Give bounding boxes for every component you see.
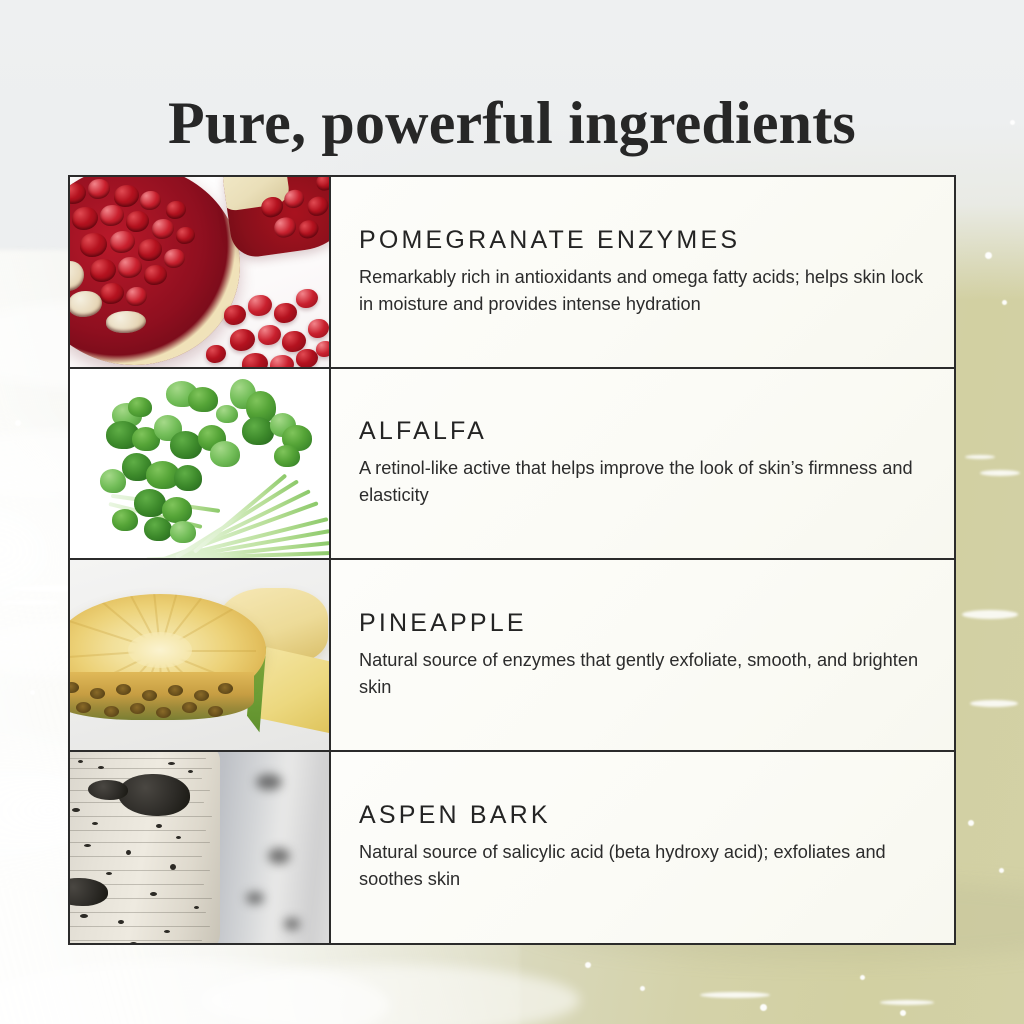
ingredient-description: Natural source of enzymes that gently ex… xyxy=(359,647,926,701)
background-speck-7 xyxy=(760,1004,767,1011)
background-streak-5 xyxy=(980,470,1020,476)
table-row: POMEGRANATE ENZYMES Remarkably rich in a… xyxy=(70,177,954,369)
ingredient-description: A retinol-like active that helps improve… xyxy=(359,455,926,509)
background-speck-10 xyxy=(30,690,35,695)
pineapple-info: PINEAPPLE Natural source of enzymes that… xyxy=(331,560,954,750)
ingredient-name: POMEGRANATE ENZYMES xyxy=(359,226,926,255)
table-row: ALFALFA A retinol-like active that helps… xyxy=(70,369,954,561)
background-streak-7 xyxy=(700,992,770,998)
background-speck-1 xyxy=(985,252,992,259)
background-streak-6 xyxy=(965,455,995,459)
ingredient-description: Remarkably rich in antioxidants and omeg… xyxy=(359,264,926,318)
page-title: Pure, powerful ingredients xyxy=(0,88,1024,158)
pineapple-photo xyxy=(70,560,331,750)
background-speck-5 xyxy=(585,962,591,968)
table-row: ASPEN BARK Natural source of salicylic a… xyxy=(70,752,954,944)
pineapple-rind xyxy=(70,672,254,720)
ingredient-description: Natural source of salicylic acid (beta h… xyxy=(359,839,926,893)
table-row: PINEAPPLE Natural source of enzymes that… xyxy=(70,560,954,752)
pomegranate-photo xyxy=(70,177,331,367)
pomegranate-info: POMEGRANATE ENZYMES Remarkably rich in a… xyxy=(331,177,954,367)
background-streak-8 xyxy=(880,1000,934,1005)
background-speck-3 xyxy=(968,820,974,826)
ingredients-table: POMEGRANATE ENZYMES Remarkably rich in a… xyxy=(68,175,956,945)
background-streak-3 xyxy=(962,610,1018,619)
aspen-bark-photo xyxy=(70,752,331,944)
pomegranate-piece xyxy=(221,177,331,260)
background-speck-9 xyxy=(900,1010,906,1016)
background-streak-4 xyxy=(970,700,1018,707)
background-speck-8 xyxy=(860,975,865,980)
background-speck-2 xyxy=(1002,300,1007,305)
ingredient-name: PINEAPPLE xyxy=(359,609,926,638)
ingredient-name: ASPEN BARK xyxy=(359,801,926,830)
background-speck-11 xyxy=(15,420,21,426)
ingredient-name: ALFALFA xyxy=(359,417,926,446)
aspen-bark-info: ASPEN BARK Natural source of salicylic a… xyxy=(331,752,954,944)
background-speck-4 xyxy=(999,868,1004,873)
background-speck-6 xyxy=(640,986,645,991)
aspen-trunk xyxy=(70,752,220,944)
background-streak-2 xyxy=(0,600,60,605)
alfalfa-sprouts-photo xyxy=(70,369,331,559)
alfalfa-info: ALFALFA A retinol-like active that helps… xyxy=(331,369,954,559)
